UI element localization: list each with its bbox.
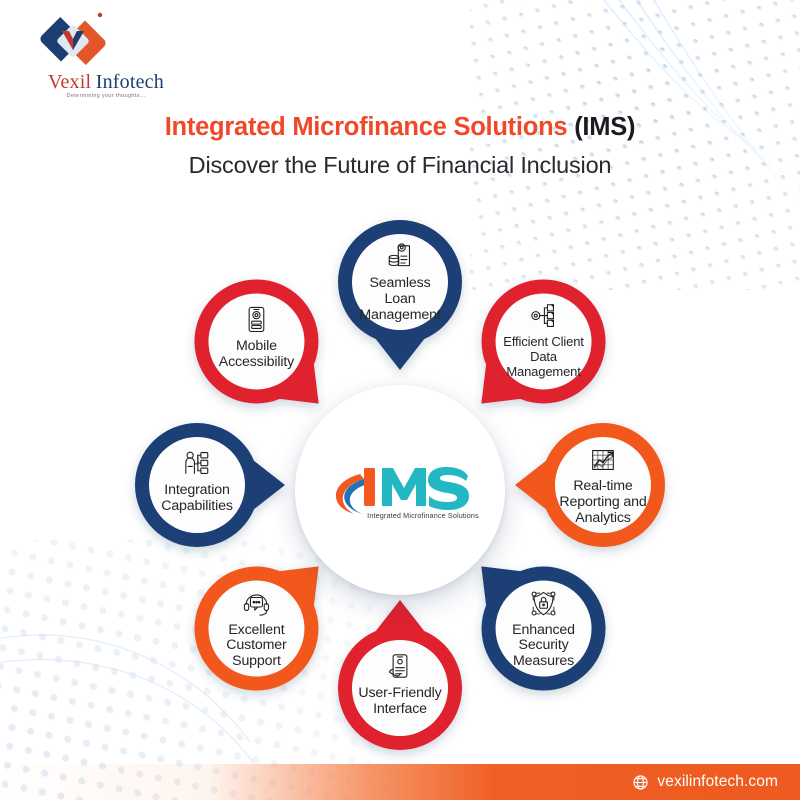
ims-swoosh-logo-icon: Integrated Microfinance Solutions: [320, 454, 480, 526]
footer-website[interactable]: vexilinfotech.com: [632, 773, 778, 791]
page-subtitle: Discover the Future of Financial Inclusi…: [0, 151, 800, 180]
globe-icon: [632, 774, 649, 791]
wheel-node-integration-capabilities[interactable]: [135, 423, 285, 547]
center-hub: Integrated Microfinance Solutions: [295, 385, 505, 595]
brand-logo[interactable]: Vexil Infotech Determining your thoughts…: [20, 6, 190, 106]
footer-bar: vexilinfotech.com: [0, 764, 800, 800]
page-title: Integrated Microfinance Solutions (IMS): [0, 112, 800, 144]
swoosh-lines-top-right: [596, 0, 800, 218]
wheel-node-mobile-accessibility[interactable]: [194, 279, 318, 403]
title-main-text: Integrated Microfinance Solutions: [165, 113, 574, 141]
hub-letter-s: [428, 467, 469, 510]
hub-letter-i: [364, 468, 375, 506]
brand-name-first: Vexil: [48, 71, 91, 93]
heading-block: Integrated Microfinance Solutions (IMS) …: [0, 112, 800, 180]
brand-name-second: Infotech: [96, 71, 164, 93]
wheel-node-excellent-customer-support[interactable]: [194, 566, 318, 690]
brand-tagline: Determining your thoughts...: [26, 93, 186, 99]
hub-logo-subtitle: Integrated Microfinance Solutions: [367, 511, 479, 520]
title-abbreviation: (IMS): [574, 113, 635, 141]
wheel-node-real-time-reporting-and-analytics[interactable]: [515, 423, 665, 547]
wheel-node-efficient-client-data-management[interactable]: [481, 279, 605, 403]
node-face-enhanced-security-measures: [496, 581, 592, 677]
node-face-integration-capabilities: [149, 437, 245, 533]
vexil-diamond-logo-icon: [34, 8, 112, 80]
logo-registered-dot: [98, 13, 102, 17]
wheel-node-enhanced-security-measures[interactable]: [481, 566, 605, 690]
hub-letter-m: [382, 468, 426, 506]
wheel-node-seamless-loan-management[interactable]: [338, 220, 462, 370]
features-wheel: Integrated Microfinance Solutions Seamle…: [100, 200, 700, 770]
node-face-efficient-client-data-management: [496, 293, 592, 389]
node-face-seamless-loan-management: [352, 234, 448, 330]
brand-wordmark: Vexil Infotech: [26, 72, 186, 92]
footer-website-text: vexilinfotech.com: [657, 773, 778, 791]
